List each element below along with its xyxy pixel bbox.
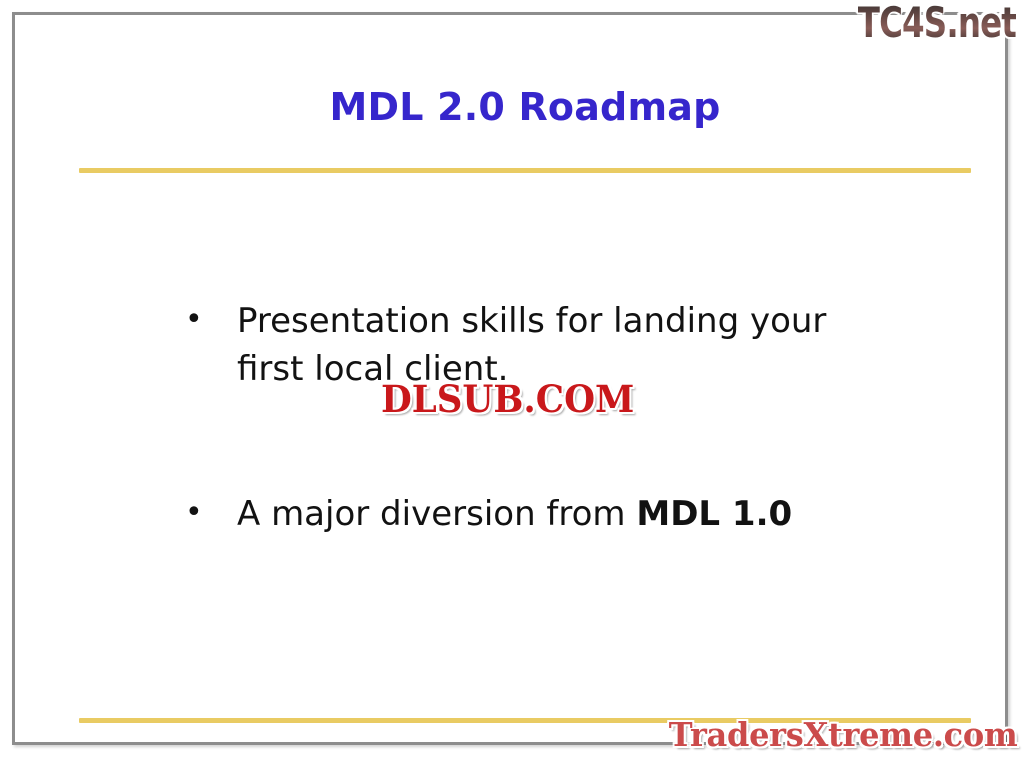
list-item-text: A major diversion from MDL 1.0 — [237, 490, 885, 538]
bullet-marker-icon: • — [185, 297, 237, 344]
list-item-text-run: Presentation skills for landing your fir… — [237, 301, 826, 389]
page-title: MDL 2.0 Roadmap — [79, 87, 971, 129]
slide-frame: MDL 2.0 Roadmap • Presentation skills fo… — [12, 12, 1008, 745]
list-item-text-run-bold: MDL 1.0 — [636, 494, 792, 534]
bullet-marker-icon: • — [185, 490, 237, 537]
list-item: • A major diversion from MDL 1.0 — [185, 490, 945, 538]
list-item-text-run: A major diversion from — [237, 494, 636, 534]
list-item: • Presentation skills for landing your f… — [185, 297, 945, 394]
list-item-text: Presentation skills for landing your fir… — [237, 297, 885, 394]
slide-root: MDL 2.0 Roadmap • Presentation skills fo… — [0, 0, 1024, 768]
slide-body: • Presentation skills for landing your f… — [185, 297, 945, 538]
divider-top — [79, 168, 971, 173]
divider-bottom — [79, 718, 971, 723]
slide-title-block: MDL 2.0 Roadmap — [79, 87, 971, 129]
